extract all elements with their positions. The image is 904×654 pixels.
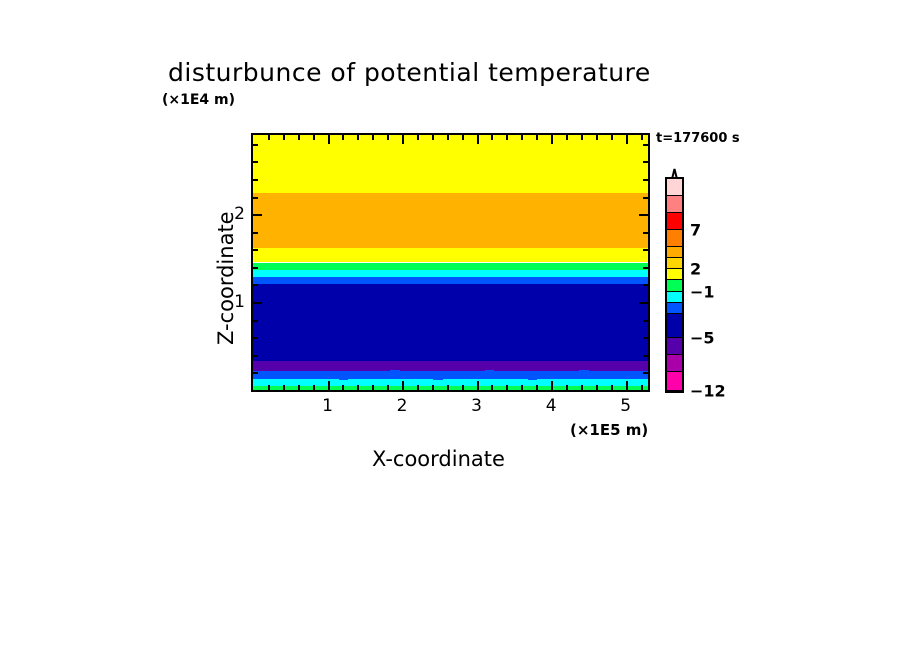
x-minor-tick-top [313, 135, 315, 140]
y-minor-tick [253, 337, 258, 339]
contour-band [253, 135, 648, 193]
x-minor-tick-top [536, 135, 538, 140]
colorbar-segment [667, 372, 682, 391]
x-major-tick [402, 381, 404, 390]
x-minor-tick-top [298, 135, 300, 140]
y-minor-tick [253, 232, 258, 234]
x-major-tick-top [328, 135, 330, 144]
x-minor-tick [313, 385, 315, 390]
colorbar-segment [667, 213, 682, 230]
x-minor-tick [387, 385, 389, 390]
x-minor-tick [506, 385, 508, 390]
y-minor-tick [253, 161, 258, 163]
colorbar-segment [667, 338, 682, 355]
x-major-tick [626, 381, 628, 390]
x-minor-tick [521, 385, 523, 390]
y-axis-unit-label: (×1E4 m) [162, 92, 235, 108]
y-minor-tick [253, 284, 258, 286]
x-minor-tick-top [432, 135, 434, 140]
timestamp-annotation: t=177600 s [656, 131, 740, 146]
x-minor-tick-top [506, 135, 508, 140]
x-tick-label: 1 [322, 396, 333, 416]
colorbar-segment [667, 230, 682, 247]
page-title: disturbunce of potential temperature [168, 58, 651, 87]
x-tick-label: 2 [397, 396, 408, 416]
interface-ripples [253, 190, 648, 196]
x-minor-tick-top [521, 135, 523, 140]
x-minor-tick [283, 385, 285, 390]
x-minor-tick-top [357, 135, 359, 140]
colorbar-segment [667, 196, 682, 213]
y-minor-tick [253, 355, 258, 357]
x-minor-tick [596, 385, 598, 390]
x-minor-tick-top [447, 135, 449, 140]
y-major-tick-right [639, 214, 648, 216]
x-minor-tick-top [268, 135, 270, 140]
y-minor-tick-right [643, 284, 648, 286]
y-minor-tick-right [643, 197, 648, 199]
x-minor-tick-top [372, 135, 374, 140]
y-minor-tick-right [643, 355, 648, 357]
x-major-tick [328, 381, 330, 390]
x-axis-unit-label: (×1E5 m) [570, 421, 648, 439]
colorbar-segment [667, 247, 682, 258]
colorbar-tick-label: −1 [690, 282, 715, 301]
x-major-tick [551, 381, 553, 390]
x-minor-tick [462, 385, 464, 390]
colorbar-segment [667, 355, 682, 372]
y-major-tick [253, 214, 262, 216]
contour-band [253, 193, 648, 248]
contour-field [253, 135, 648, 390]
x-minor-tick [611, 385, 613, 390]
colorbar-segment [667, 280, 682, 291]
y-major-tick-right [639, 302, 648, 304]
x-minor-tick [342, 385, 344, 390]
colorbar-tick-label: −12 [690, 382, 726, 401]
x-minor-tick [536, 385, 538, 390]
x-major-tick [477, 381, 479, 390]
colorbar-tick-label: −5 [690, 329, 715, 348]
x-minor-tick-top [641, 135, 643, 140]
x-major-tick-top [477, 135, 479, 144]
y-minor-tick [253, 249, 258, 251]
colorbar-segment [667, 269, 682, 280]
x-minor-tick [372, 385, 374, 390]
y-minor-tick [253, 372, 258, 374]
contour-band [253, 284, 648, 361]
colorbar-segment [667, 179, 682, 196]
colorbar-segment [667, 292, 682, 303]
y-minor-tick-right [643, 232, 648, 234]
y-minor-tick-right [643, 372, 648, 374]
x-minor-tick-top [581, 135, 583, 140]
colorbar[interactable] [665, 177, 684, 393]
contour-band [253, 270, 648, 277]
x-minor-tick-top [417, 135, 419, 140]
x-minor-tick-top [566, 135, 568, 140]
x-minor-tick [581, 385, 583, 390]
x-minor-tick [357, 385, 359, 390]
y-minor-tick-right [643, 249, 648, 251]
x-major-tick-top [402, 135, 404, 144]
colorbar-tick-label: 7 [690, 220, 701, 239]
x-minor-tick [298, 385, 300, 390]
x-tick-label: 4 [546, 396, 557, 416]
y-minor-tick-right [643, 320, 648, 322]
x-minor-tick-top [283, 135, 285, 140]
x-minor-tick-top [596, 135, 598, 140]
x-minor-tick-top [491, 135, 493, 140]
y-axis-title: Z-coordinate [214, 211, 238, 345]
y-minor-tick-right [643, 144, 648, 146]
colorbar-segment [667, 303, 682, 314]
y-minor-tick [253, 179, 258, 181]
figure-canvas: disturbunce of potential temperature (×1… [0, 0, 904, 654]
x-tick-label: 5 [620, 396, 631, 416]
y-minor-tick [253, 320, 258, 322]
x-major-tick-top [551, 135, 553, 144]
x-minor-tick-top [611, 135, 613, 140]
y-minor-tick-right [643, 337, 648, 339]
y-minor-tick-right [643, 179, 648, 181]
x-minor-tick [566, 385, 568, 390]
contour-band [253, 263, 648, 271]
x-minor-tick-top [387, 135, 389, 140]
x-axis-title: X-coordinate [372, 447, 505, 471]
x-minor-tick [432, 385, 434, 390]
x-minor-tick [641, 385, 643, 390]
x-major-tick-top [626, 135, 628, 144]
y-major-tick [253, 302, 262, 304]
y-minor-tick-right [643, 267, 648, 269]
x-minor-tick-top [462, 135, 464, 140]
colorbar-segment [667, 258, 682, 269]
contour-band [253, 248, 648, 263]
colorbar-tick-label: 2 [690, 260, 701, 279]
x-minor-tick-top [342, 135, 344, 140]
x-minor-tick [447, 385, 449, 390]
x-minor-tick [417, 385, 419, 390]
x-minor-tick [491, 385, 493, 390]
y-minor-tick [253, 144, 258, 146]
colorbar-segment [667, 314, 682, 338]
contour-band [253, 277, 648, 284]
plot-area[interactable] [251, 133, 650, 392]
y-minor-tick-right [643, 161, 648, 163]
x-tick-label: 3 [471, 396, 482, 416]
x-minor-tick [268, 385, 270, 390]
y-minor-tick [253, 267, 258, 269]
y-minor-tick [253, 197, 258, 199]
